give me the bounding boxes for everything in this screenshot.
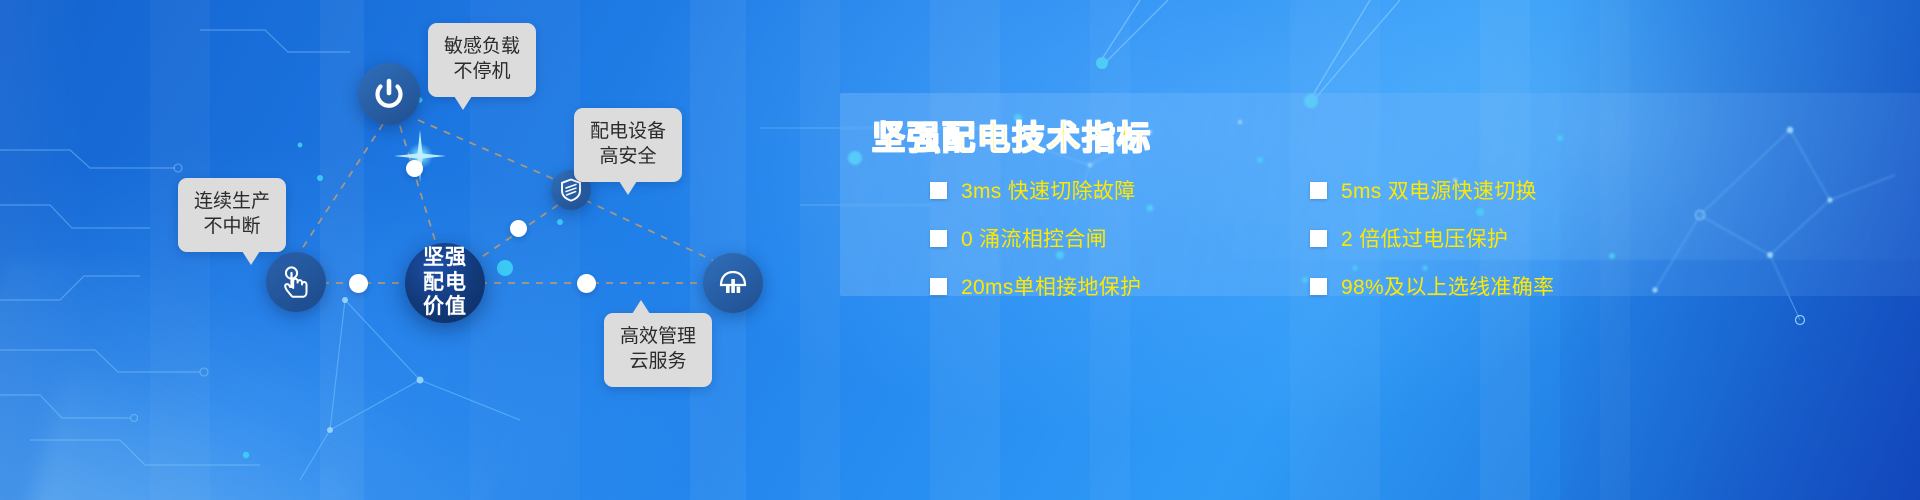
center-node-line-3: 价值	[423, 295, 467, 320]
bullet-square-icon	[930, 182, 947, 199]
list-item: 5ms 双电源快速切换	[1310, 175, 1680, 205]
node-power-button[interactable]	[358, 63, 420, 125]
link-dot	[577, 274, 596, 293]
list-item: 3ms 快速切除故障	[930, 175, 1300, 205]
spec-label: 3ms 快速切除故障	[961, 175, 1136, 205]
callout-line-1: 敏感负载	[444, 34, 520, 59]
shield-icon	[560, 178, 582, 202]
bullet-square-icon	[930, 230, 947, 247]
callout-continuous-production: 连续生产 不中断	[178, 178, 286, 252]
callout-line-1: 配电设备	[590, 119, 666, 144]
hand-touch-icon	[279, 264, 313, 300]
list-item: 98%及以上选线准确率	[1310, 271, 1680, 301]
bar-chart-icon	[717, 268, 749, 298]
spec-label: 5ms 双电源快速切换	[1341, 175, 1537, 205]
link-dot	[406, 160, 423, 177]
spec-label: 20ms单相接地保护	[961, 271, 1141, 301]
list-item: 0 涌流相控合闸	[930, 223, 1300, 253]
tech-specs-list: 3ms 快速切除故障 5ms 双电源快速切换 0 涌流相控合闸 2 倍低过电压保…	[930, 175, 1890, 301]
spec-label: 2 倍低过电压保护	[1341, 223, 1508, 253]
panel-title: 坚强配电技术指标	[872, 111, 1152, 159]
callout-line-2: 不停机	[444, 59, 520, 84]
bullet-square-icon	[1310, 278, 1327, 295]
center-node[interactable]: 坚强 配电 价值	[405, 243, 485, 323]
power-button-icon	[372, 77, 406, 111]
spec-label: 0 涌流相控合闸	[961, 223, 1107, 253]
center-node-line-2: 配电	[423, 271, 467, 296]
callout-distribution-safety: 配电设备 高安全	[574, 108, 682, 182]
node-hand-touch[interactable]	[266, 252, 326, 312]
callout-line-1: 高效管理	[620, 324, 696, 349]
list-item: 2 倍低过电压保护	[1310, 223, 1680, 253]
callout-line-1: 连续生产	[194, 189, 270, 214]
callout-line-2: 不中断	[194, 214, 270, 239]
callout-efficient-management: 高效管理 云服务	[604, 313, 712, 387]
callout-line-2: 云服务	[620, 349, 696, 374]
bullet-square-icon	[1310, 230, 1327, 247]
node-bar-chart[interactable]	[703, 253, 763, 313]
value-network-diagram: 坚强 配电 价值 敏感负载 不停机 配电设备 高安全 连续生产 不中断 高效管理…	[0, 0, 860, 500]
tech-specs-panel: 坚强配电技术指标 3ms 快速切除故障 5ms 双电源快速切换 0 涌流相控合闸…	[840, 93, 1920, 296]
list-item: 20ms单相接地保护	[930, 271, 1300, 301]
bullet-square-icon	[1310, 182, 1327, 199]
link-dot	[510, 220, 527, 237]
spec-label: 98%及以上选线准确率	[1341, 271, 1554, 301]
bullet-square-icon	[930, 278, 947, 295]
center-node-line-1: 坚强	[423, 246, 467, 271]
callout-sensitive-load: 敏感负载 不停机	[428, 23, 536, 97]
callout-line-2: 高安全	[590, 144, 666, 169]
link-dot	[349, 274, 368, 293]
